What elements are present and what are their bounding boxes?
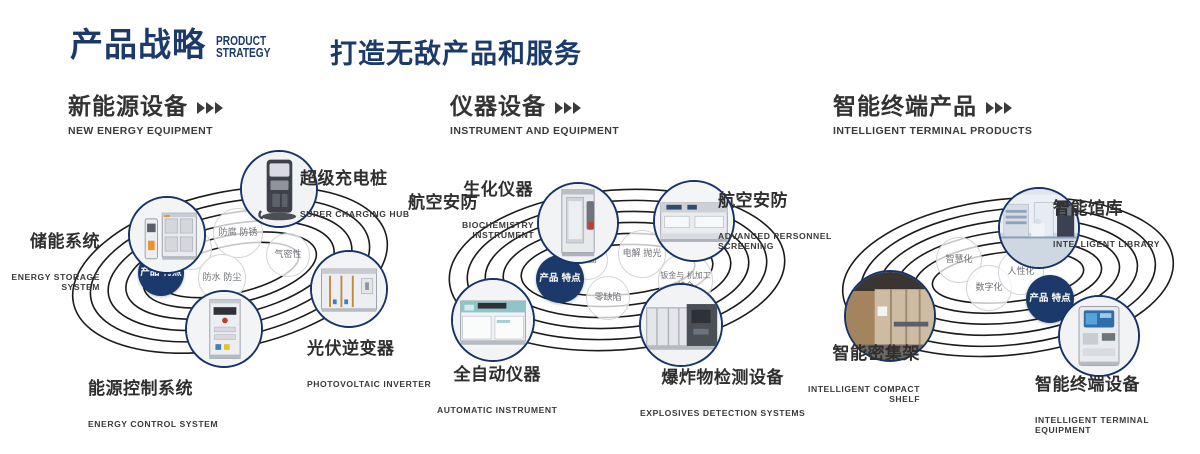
label-super-charging-hub: 超级充电桩 SUPER CHARGING HUB <box>300 152 410 237</box>
label-cn: 生化仪器 <box>462 181 534 200</box>
chevron-right-icon <box>197 102 223 114</box>
chevron-right-icon <box>555 102 581 114</box>
label-en: ENERGY CONTROL SYSTEM <box>88 419 218 430</box>
node-biochemistry-instrument[interactable] <box>537 182 619 264</box>
section-title-cn: 新能源设备 <box>68 96 188 119</box>
section-title-new-energy: 新能源设备 NEW ENERGY EQUIPMENT <box>68 96 223 137</box>
label-energy-storage-system: 储能系统 ENERGY STORAGE SYSTEM <box>0 215 100 311</box>
label-en: INTELLIGENT LIBRARY <box>1053 239 1160 250</box>
label-cn: 智能馆库 <box>1053 200 1160 219</box>
label-advanced-personnel-screening: 航空安防 ADVANCED PERSONNEL SCREENING <box>718 174 832 270</box>
product-strategy-infographic: 产品战略 PRODUCT STRATEGY 打造无敌产品和服务 新能源设备 NE… <box>0 0 1200 422</box>
feature-bubble: 气密性 <box>266 233 310 277</box>
chevron-right-icon <box>986 102 1012 114</box>
section-title-cn: 智能终端产品 <box>833 96 977 119</box>
label-biochemistry-instrument: 生化仪器 BIOCHEMISTRY INSTRUMENT <box>462 163 534 259</box>
label-en: ENERGY STORAGE SYSTEM <box>0 272 100 293</box>
label-cn: 智能终端设备 <box>1035 376 1200 395</box>
label-cn: 超级充电桩 <box>300 170 410 189</box>
page-title: 产品战略 <box>70 28 206 61</box>
label-en: PHOTOVOLTAIC INVERTER <box>307 379 431 390</box>
label-en: BIOCHEMISTRY INSTRUMENT <box>462 220 534 241</box>
label-automatic-instrument: 全自动仪器 AUTOMATIC INSTRUMENT <box>437 348 557 433</box>
label-intelligent-library: 智能馆库 INTELLIGENT LIBRARY <box>1053 182 1160 267</box>
label-cn: 全自动仪器 <box>437 366 557 385</box>
label-en: SUPER CHARGING HUB <box>300 209 410 220</box>
label-en: ADVANCED PERSONNEL SCREENING <box>718 231 832 252</box>
label-cn: 储能系统 <box>0 233 100 252</box>
pv-inverter-cabinet-icon <box>312 252 386 326</box>
node-photovoltaic-inverter[interactable] <box>310 250 388 328</box>
section-title-cn: 仪器设备 <box>450 96 546 119</box>
page-header: 产品战略 PRODUCT STRATEGY <box>70 28 286 61</box>
section-title-instrument: 仪器设备 INSTRUMENT AND EQUIPMENT <box>450 96 619 137</box>
node-energy-storage-system[interactable] <box>128 196 206 274</box>
label-energy-control-system: 能源控制系统 ENERGY CONTROL SYSTEM <box>88 362 218 447</box>
label-en: INTELLIGENT COMPACT SHELF <box>802 384 920 405</box>
label-en: INTELLIGENT TERMINAL EQUIPMENT <box>1035 415 1200 436</box>
biochem-analyzer-icon <box>539 184 617 262</box>
section-title-en: INTELLIGENT TERMINAL PRODUCTS <box>833 125 1032 137</box>
section-title-en: NEW ENERGY EQUIPMENT <box>68 125 223 137</box>
node-energy-control-system[interactable] <box>185 290 263 368</box>
section-title-en: INSTRUMENT AND EQUIPMENT <box>450 125 619 137</box>
control-cabinet-icon <box>187 292 261 366</box>
label-en: EXPLOSIVES DETECTION SYSTEMS <box>640 408 805 419</box>
label-explosives-detection-systems: 爆炸物检测设备 EXPLOSIVES DETECTION SYSTEMS <box>640 351 805 436</box>
energy-storage-cabinet-icon <box>130 198 204 272</box>
label-en: AUTOMATIC INSTRUMENT <box>437 405 557 416</box>
label-cn: 爆炸物检测设备 <box>640 369 805 388</box>
page-title-english: PRODUCT STRATEGY <box>216 35 270 59</box>
label-photovoltaic-inverter: 光伏逆变器 PHOTOVOLTAIC INVERTER <box>307 322 431 407</box>
label-intelligent-compact-shelf: 智能密集架 INTELLIGENT COMPACT SHELF <box>802 327 920 423</box>
page-subtitle: 打造无敌产品和服务 <box>330 32 582 71</box>
section-title-intelligent-terminal: 智能终端产品 INTELLIGENT TERMINAL PRODUCTS <box>833 96 1032 137</box>
label-cn: 光伏逆变器 <box>307 340 431 359</box>
label-cn: 航空安防 <box>718 192 832 211</box>
label-intelligent-terminal-equipment: 智能终端设备 INTELLIGENT TERMINAL EQUIPMENT <box>1035 358 1200 454</box>
label-cn: 能源控制系统 <box>88 380 218 399</box>
label-cn: 智能密集架 <box>802 345 920 364</box>
feature-bubble: 零缺陷 <box>586 276 630 320</box>
